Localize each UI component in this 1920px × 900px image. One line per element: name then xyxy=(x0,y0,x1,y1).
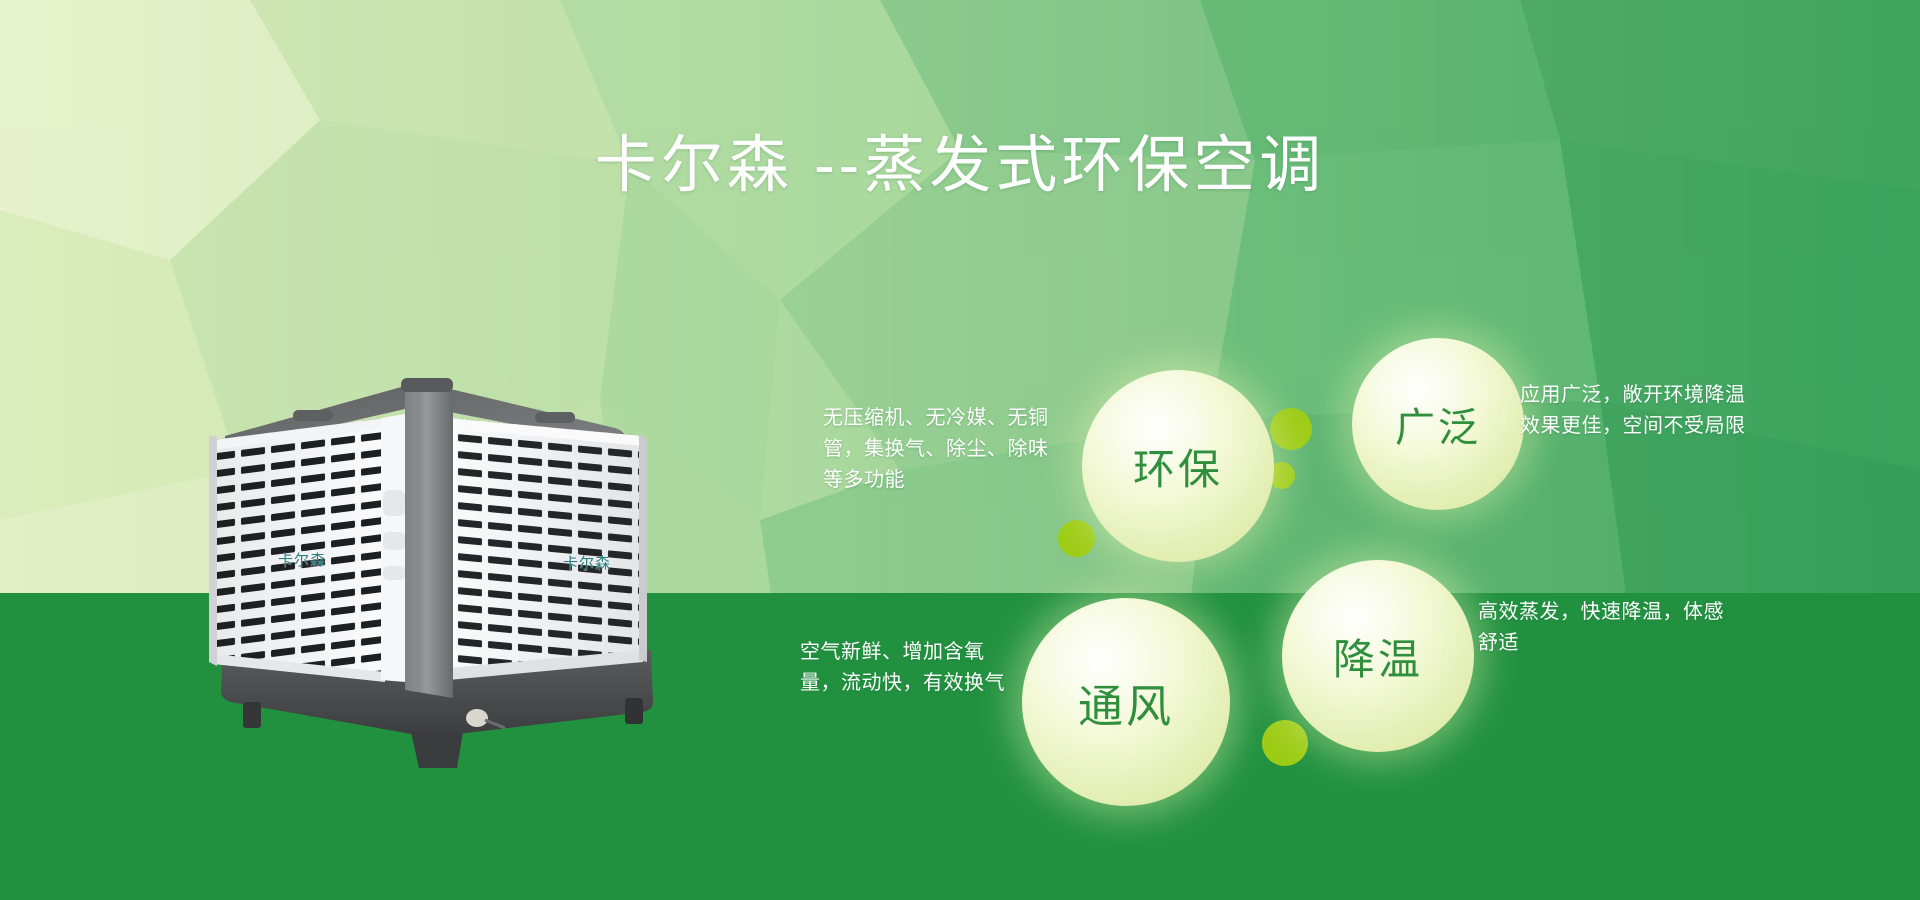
product-brand-label-left: 卡尔森 xyxy=(278,549,326,570)
promo-banner: 卡尔森 --蒸发式环保空调 环保 广泛 通风 降温 无压缩机、无冷媒、无铜管，集… xyxy=(0,0,1920,900)
product-brand-label-right: 卡尔森 xyxy=(563,552,611,573)
feature-bubble-jiangwen[interactable]: 降温 xyxy=(1282,560,1474,752)
feature-caption-tongfeng: 空气新鲜、增加含氧量，流动快，有效换气 xyxy=(800,637,1015,699)
feature-bubble-tongfeng[interactable]: 通风 xyxy=(1022,598,1230,806)
feature-caption-huanbao: 无压缩机、无冷媒、无铜管，集换气、除尘、除味等多功能 xyxy=(823,403,1063,496)
feature-caption-jiangwen: 高效蒸发，快速降温，体感舒适 xyxy=(1478,597,1740,659)
feature-caption-guangfan: 应用广泛，敞开环境降温效果更佳，空间不受局限 xyxy=(1520,380,1750,442)
feature-bubble-guangfan[interactable]: 广泛 xyxy=(1352,338,1524,510)
page-title: 卡尔森 --蒸发式环保空调 xyxy=(0,132,1920,200)
product-image-air-cooler: 卡尔森 卡尔森 xyxy=(205,350,715,770)
decorative-dot-medium xyxy=(1058,520,1095,557)
decorative-dot-bottom xyxy=(1262,720,1308,766)
decorative-dot-large xyxy=(1270,408,1312,450)
feature-bubble-huanbao[interactable]: 环保 xyxy=(1082,370,1274,562)
